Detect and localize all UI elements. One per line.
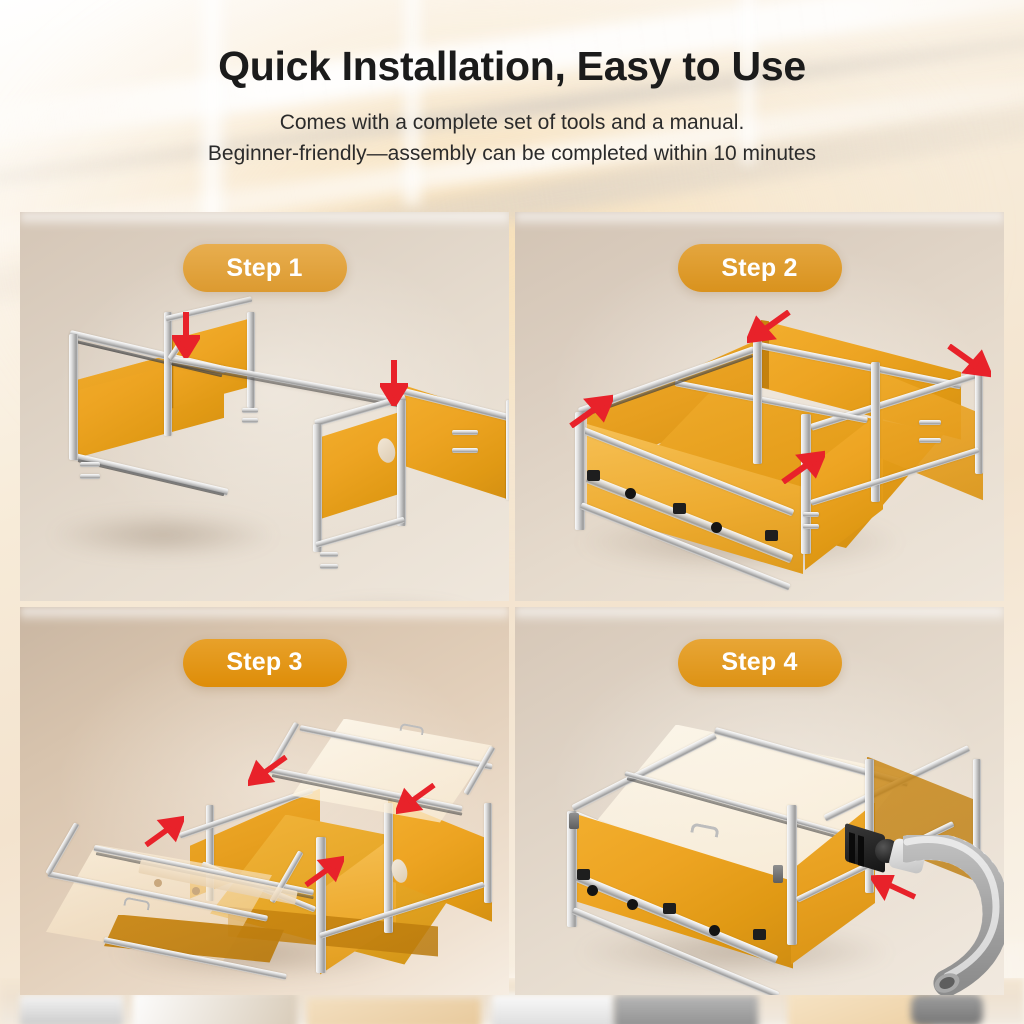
arrow-lid-right <box>396 783 436 815</box>
step-badge-3: Step 3 <box>183 639 347 687</box>
page-title: Quick Installation, Easy to Use <box>0 44 1024 90</box>
step-badge-1: Step 1 <box>183 244 347 292</box>
arrow-corner-left <box>569 394 613 428</box>
arrow-lid-left <box>144 815 184 847</box>
step-badge-4: Step 4 <box>678 639 842 687</box>
arrow-corner-top-right <box>947 344 991 378</box>
step-panel-1: Step 1 <box>20 212 509 601</box>
arrow-down-right <box>380 360 408 406</box>
step-panel-grid: Step 1 <box>20 212 1004 995</box>
subtitle-line-2: Beginner-friendly—assembly can be comple… <box>0 139 1024 169</box>
step-panel-3: Step 3 <box>20 607 509 996</box>
step-badge-2: Step 2 <box>678 244 842 292</box>
arrow-lid-front <box>304 855 344 887</box>
arrow-down-left <box>172 312 200 358</box>
arrow-lid-rear <box>248 755 288 787</box>
header: Quick Installation, Easy to Use Comes wi… <box>0 0 1024 200</box>
subtitle-line-1: Comes with a complete set of tools and a… <box>0 108 1024 138</box>
exhaust-hose <box>903 835 1004 995</box>
arrow-corner-top-left <box>747 310 791 344</box>
step-panel-4: Step 4 <box>515 607 1004 996</box>
arrow-hose-connect <box>871 875 917 903</box>
arrow-corner-front <box>781 450 825 484</box>
step-panel-2: Step 2 <box>515 212 1004 601</box>
